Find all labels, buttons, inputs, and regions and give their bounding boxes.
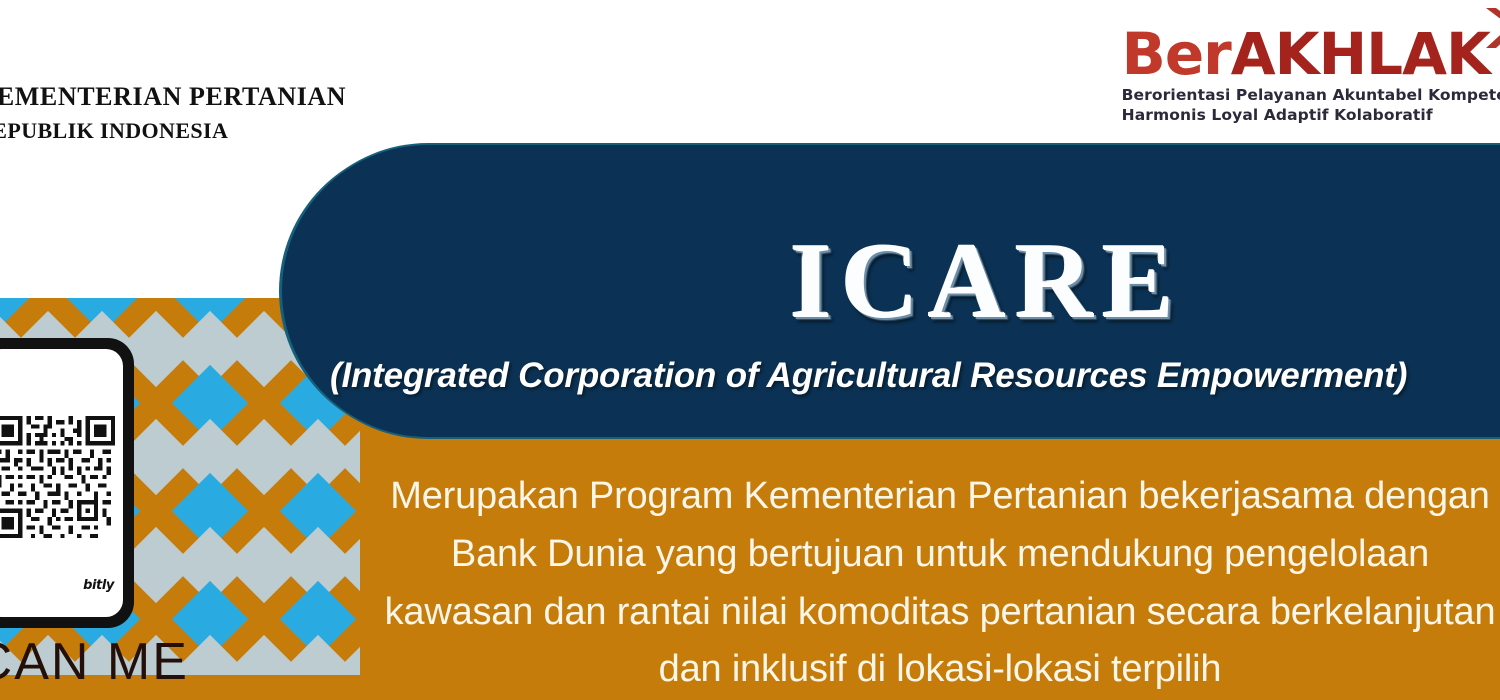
berakhlak-wordmark-prefix: Ber [1122,20,1231,88]
berakhlak-wordmark-suffix: AKHLAK [1231,20,1490,88]
icare-title: ICARE [790,228,1183,336]
description-line-1: Merupakan Program Kementerian Pertanian … [300,468,1500,526]
qr-code-container[interactable]: bitly [0,338,134,628]
berakhlak-wordmark: BerAKHLAK [1122,26,1500,83]
program-description: Merupakan Program Kementerian Pertanian … [300,468,1500,699]
chevron-right-icon [1476,4,1500,52]
qr-code-surface: bitly [0,349,123,617]
description-line-4: dan inklusif di lokasi-lokasi terpilih [300,641,1500,699]
berakhlak-tagline-line-2: Harmonis Loyal Adaptif Kolaboratif [1122,106,1500,126]
banner-canvas: KEMENTERIAN PERTANIAN REPUBLIK INDONESIA… [0,0,1500,700]
qr-code-frame: bitly [0,338,134,628]
scan-me-caption: SCAN ME [0,632,189,692]
ministry-line-1: KEMENTERIAN PERTANIAN [0,84,346,110]
ministry-logo-text: KEMENTERIAN PERTANIAN REPUBLIK INDONESIA [0,84,346,142]
description-line-2: Bank Dunia yang bertujuan untuk mendukun… [300,526,1500,584]
berakhlak-tagline: Berorientasi Pelayanan Akuntabel Kompete… [1122,86,1500,126]
icare-subtitle: (Integrated Corporation of Agricultural … [330,356,1407,396]
bitly-watermark: bitly [83,578,114,593]
qr-code-icon [0,359,115,595]
berakhlak-logo: BerAKHLAK Berorientasi Pelayanan Akuntab… [1122,26,1500,125]
description-line-3: kawasan dan rantai nilai komoditas perta… [300,584,1500,642]
berakhlak-tagline-line-1: Berorientasi Pelayanan Akuntabel Kompete… [1122,86,1500,106]
ministry-line-2: REPUBLIK INDONESIA [0,120,346,142]
